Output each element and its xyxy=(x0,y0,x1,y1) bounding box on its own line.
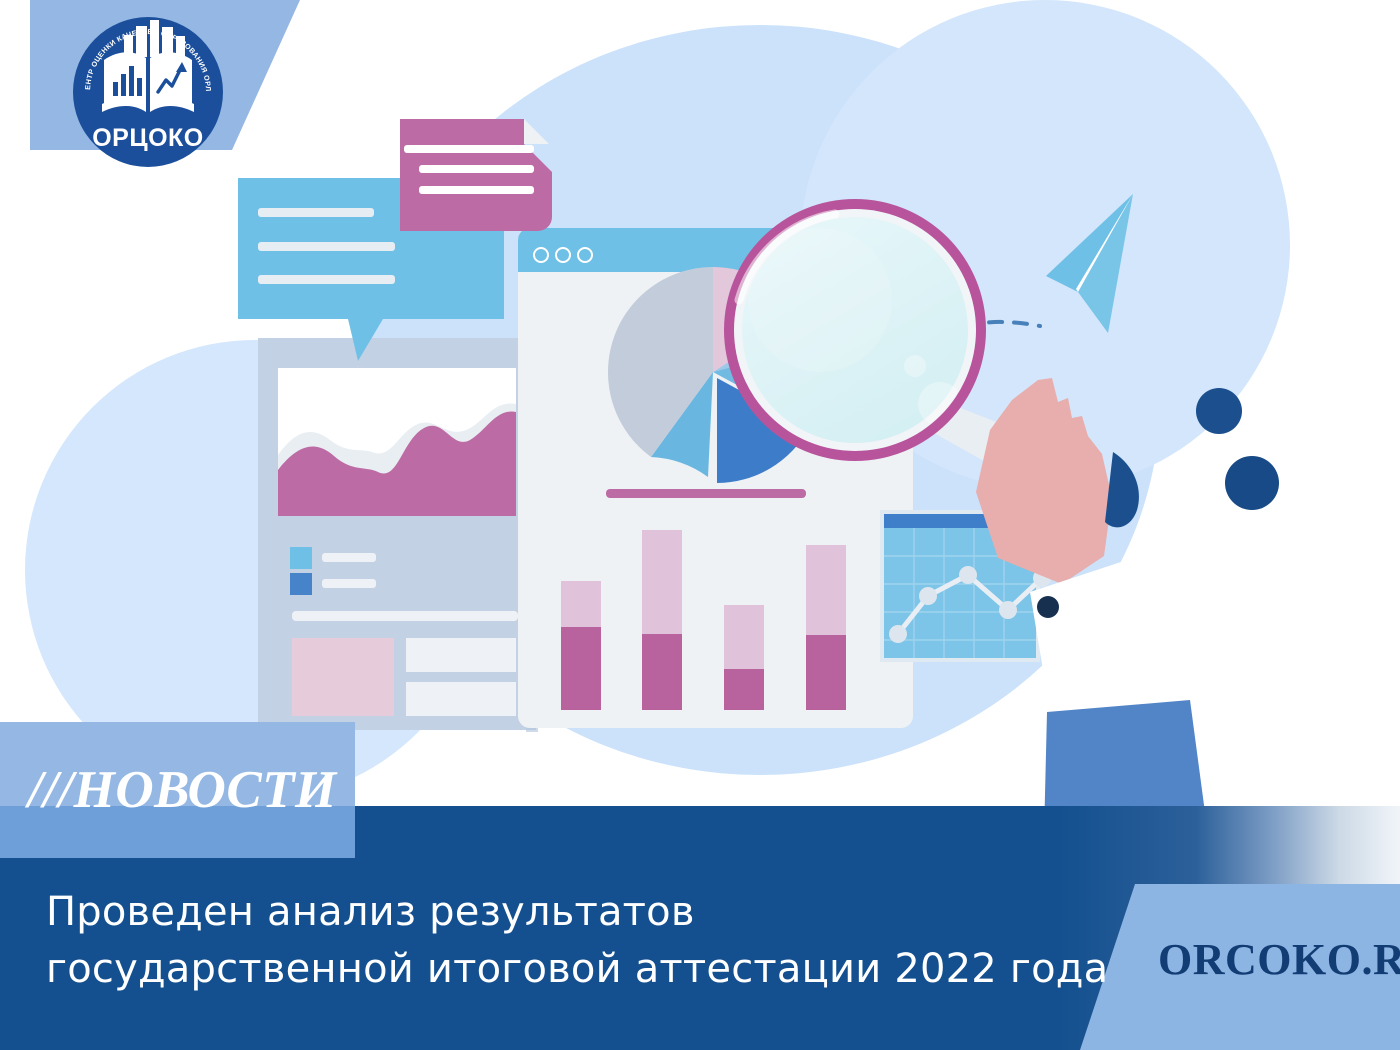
pink-speech-bubble xyxy=(400,119,552,231)
bubble-line xyxy=(419,165,534,173)
bubble-line xyxy=(258,242,395,251)
site-url-label[interactable]: ORCOKO.RU xyxy=(1158,934,1400,985)
mini-chart-point xyxy=(889,625,907,643)
bubble-line xyxy=(258,275,395,284)
mini-chart-point xyxy=(959,566,977,584)
bubble-line xyxy=(419,186,534,194)
card-legend-swatch-2 xyxy=(290,573,312,595)
card-legend-swatch-1 xyxy=(290,547,312,569)
news-banner-canvas: РЕГИОНАЛЬНЫЙ ЦЕНТР ОЦЕНКИ КАЧЕСТВА ОБРАЗ… xyxy=(0,0,1400,1050)
decor-dot-1 xyxy=(1196,388,1242,434)
cuff-button xyxy=(1037,596,1059,618)
mini-chart-point xyxy=(919,587,937,605)
headline-line-2: государственной итоговой аттестации 2022… xyxy=(46,941,1126,998)
decor-dot-2 xyxy=(1225,456,1279,510)
headline: Проведен анализ результатов государствен… xyxy=(46,884,1126,998)
report-card xyxy=(258,338,538,732)
news-ribbon-label: ///НОВОСТИ xyxy=(28,760,337,820)
bubble-line xyxy=(404,145,534,153)
bubble-line xyxy=(258,208,374,217)
headline-line-1: Проведен анализ результатов xyxy=(46,884,1126,941)
mini-chart-point xyxy=(999,601,1017,619)
